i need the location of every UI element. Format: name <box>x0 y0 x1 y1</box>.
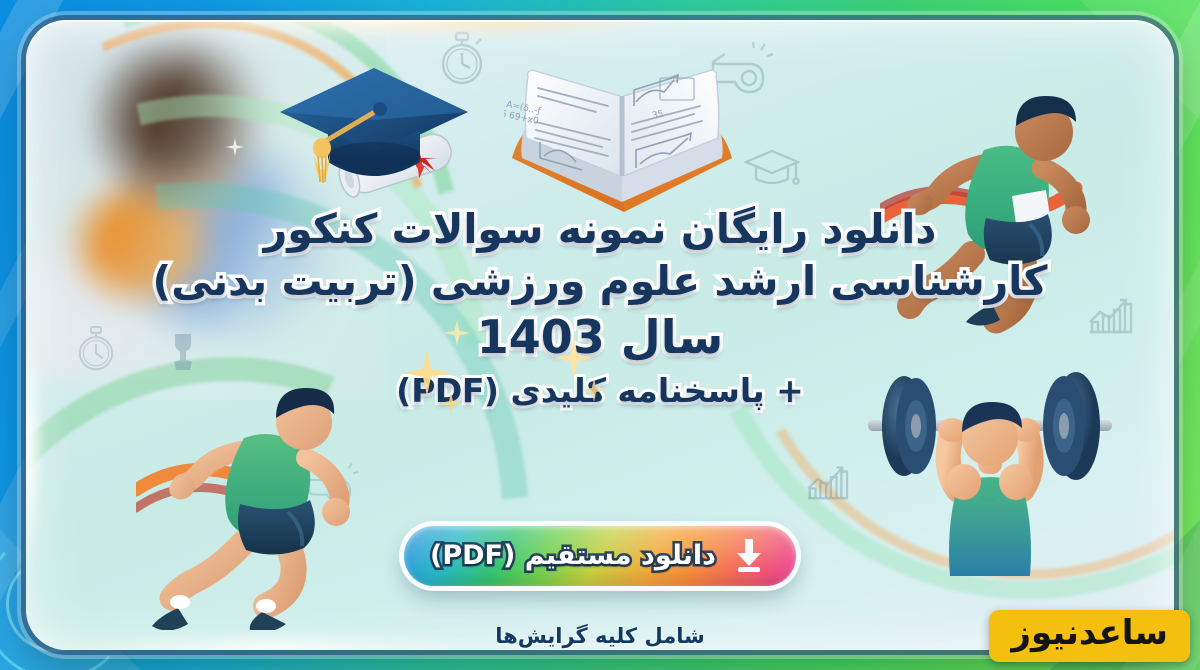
bar-chart-icon <box>804 460 850 502</box>
download-pdf-button-label: دانلود مستقیم (PDF) <box>430 540 716 571</box>
banner-root: A=(δ..-ƒ y=36 69+x0 <box>0 0 1200 670</box>
cta-button-wrap: دانلود مستقیم (PDF) <box>26 526 1174 586</box>
graduation-cap-outline-icon <box>744 148 800 190</box>
graduation-cap-illustration <box>266 38 486 218</box>
headline-line-1: دانلود رایگان نمونه سوالات کنکور <box>26 206 1174 254</box>
download-pdf-button[interactable]: دانلود مستقیم (PDF) <box>404 526 796 586</box>
headline-block: دانلود رایگان نمونه سوالات کنکور کارشناس… <box>26 206 1174 411</box>
open-book-illustration: A=(δ..-ƒ y=36 69+x0 <box>504 46 744 226</box>
download-icon <box>732 537 766 573</box>
headline-line-2: کارشناسی ارشد علوم ورزشی (تربیت بدنی) <box>26 258 1174 306</box>
saednews-logo-text: ساعدنیوز <box>1011 616 1168 652</box>
headline-line-3: سال 1403 <box>26 311 1174 364</box>
headline-line-4: + پاسخنامه کلیدی (PDF) <box>26 372 1174 410</box>
saednews-logo-badge[interactable]: ساعدنیوز <box>989 610 1190 662</box>
banner-card: A=(δ..-ƒ y=36 69+x0 <box>26 20 1174 650</box>
